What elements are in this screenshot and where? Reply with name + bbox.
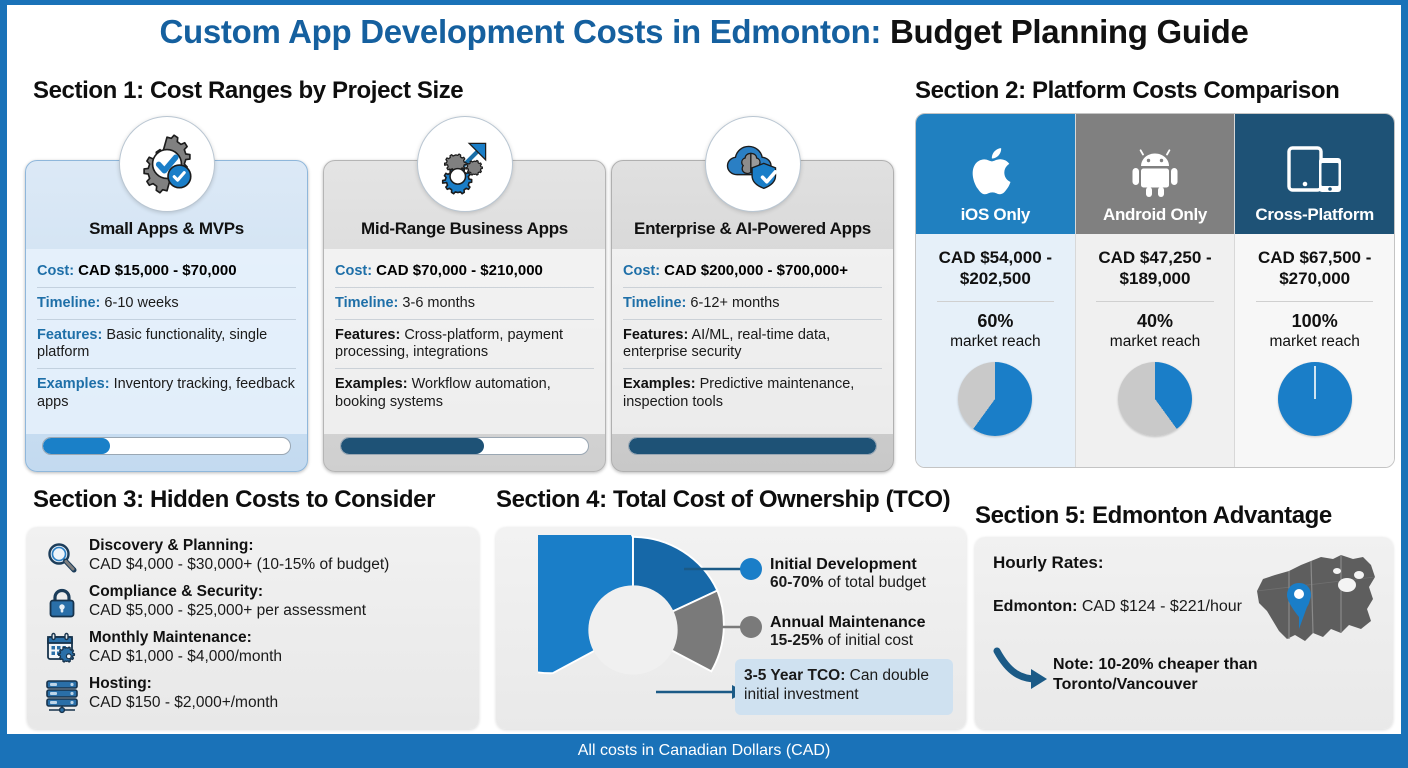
card-row-timeline: Timeline: 3-6 months xyxy=(335,288,594,320)
section-4-heading: Section 4: Total Cost of Ownership (TCO) xyxy=(496,486,950,514)
legend-sub: 60-70% of total budget xyxy=(770,574,926,593)
reach-pct: 60% xyxy=(950,311,1040,333)
reach-label: market reach xyxy=(950,333,1040,352)
market-reach: 40% market reach xyxy=(1110,311,1200,351)
examples-label: Examples: xyxy=(335,376,408,392)
reach-pct: 40% xyxy=(1110,311,1200,333)
market-reach: 60% market reach xyxy=(950,311,1040,351)
edmonton-advantage-panel: Hourly Rates: Edmonton: CAD $124 - $221/… xyxy=(975,537,1393,729)
legend-annual-maintenance: Annual Maintenance 15-25% of initial cos… xyxy=(770,613,926,651)
curved-arrow-icon xyxy=(993,647,1051,693)
lock-icon xyxy=(39,583,85,620)
features-label: Features: xyxy=(335,327,400,343)
footer-text: All costs in Canadian Dollars (CAD) xyxy=(578,742,831,760)
platform-cost: CAD $54,000 - $202,500 xyxy=(916,248,1075,289)
timeline-label: Timeline: xyxy=(37,295,100,311)
item-title: Monthly Maintenance: xyxy=(89,629,282,648)
card-title: Small Apps & MVPs xyxy=(26,219,307,239)
item-value: CAD $4,000 - $30,000+ (10-15% of budget) xyxy=(89,556,389,575)
card-row-cost: Cost: CAD $15,000 - $70,000 xyxy=(37,255,296,288)
card-row-cost: Cost: CAD $200,000 - $700,000+ xyxy=(623,255,882,288)
platform-cost: CAD $67,500 - $270,000 xyxy=(1235,248,1394,289)
tablet-phone-icon xyxy=(1285,144,1345,205)
card-row-examples: Examples: Inventory tracking, feedback a… xyxy=(37,369,296,417)
legend-title: Initial Development xyxy=(770,555,926,574)
features-label: Features: xyxy=(37,327,102,343)
market-reach: 100% market reach xyxy=(1269,311,1359,351)
gears-growth-arrow-icon xyxy=(417,116,513,212)
gear-check-icon xyxy=(119,116,215,212)
cost-label: Cost: xyxy=(623,263,660,279)
examples-label: Examples: xyxy=(37,376,110,392)
reach-pie-chart xyxy=(1278,362,1352,436)
card-title: Enterprise & AI-Powered Apps xyxy=(612,219,893,239)
platform-header: iOS Only xyxy=(916,114,1075,234)
item-title: Hosting: xyxy=(89,675,278,694)
cost-label: Cost: xyxy=(37,263,74,279)
city-rate: CAD $124 - $221/hour xyxy=(1082,598,1242,615)
item-title: Compliance & Security: xyxy=(89,583,366,602)
cloud-brain-shield-icon xyxy=(705,116,801,212)
legend-sub-bold: 15-25% xyxy=(770,632,823,649)
list-item[interactable]: Discovery & Planning: CAD $4,000 - $30,0… xyxy=(39,537,467,582)
card-row-features: Features: Basic functionality, single pl… xyxy=(37,320,296,369)
canada-map-pin-icon xyxy=(1249,551,1379,661)
card-body: Cost: CAD $15,000 - $70,000 Timeline: 6-… xyxy=(26,249,307,434)
list-item[interactable]: Compliance & Security: CAD $5,000 - $25,… xyxy=(39,583,467,628)
city-label: Edmonton: xyxy=(993,598,1077,615)
infographic-page: Custom App Development Costs in Edmonton… xyxy=(0,0,1408,768)
page-title-highlight: Custom App Development Costs in Edmonton… xyxy=(159,13,881,50)
page-title-rest: Budget Planning Guide xyxy=(890,13,1249,50)
legend-title: Annual Maintenance xyxy=(770,613,926,632)
timeline-label: Timeline: xyxy=(335,295,398,311)
section-2-heading: Section 2: Platform Costs Comparison xyxy=(915,77,1339,105)
cost-label: Cost: xyxy=(335,263,372,279)
cost-value: CAD $70,000 - $210,000 xyxy=(376,262,543,279)
progress-fill xyxy=(629,438,876,454)
section-5-heading: Section 5: Edmonton Advantage xyxy=(975,502,1332,530)
progress-bar xyxy=(340,437,589,455)
progress-fill xyxy=(43,438,110,454)
timeline-value: 6-12+ months xyxy=(690,295,779,311)
divider xyxy=(937,301,1054,302)
section-1-heading: Section 1: Cost Ranges by Project Size xyxy=(33,77,463,105)
card-title: Mid-Range Business Apps xyxy=(324,219,605,239)
legend-initial-development: Initial Development 60-70% of total budg… xyxy=(770,555,926,593)
platform-comparison-table: iOS Only CAD $54,000 - $202,500 60% mark… xyxy=(915,113,1395,468)
list-item-text: Discovery & Planning: CAD $4,000 - $30,0… xyxy=(85,537,389,575)
timeline-value: 6-10 weeks xyxy=(104,295,178,311)
tco-panel: Initial Development 60-70% of total budg… xyxy=(496,527,966,729)
project-card-enterprise[interactable]: Enterprise & AI-Powered Apps Cost: CAD $… xyxy=(611,160,894,472)
footer-bar: All costs in Canadian Dollars (CAD) xyxy=(0,734,1408,768)
timeline-value: 3-6 months xyxy=(402,295,475,311)
platform-body: CAD $67,500 - $270,000 100% market reach xyxy=(1235,234,1394,467)
platform-body: CAD $47,250 - $189,000 40% market reach xyxy=(1076,234,1235,467)
legend-sub-bold: 60-70% xyxy=(770,574,823,591)
platform-column-ios[interactable]: iOS Only CAD $54,000 - $202,500 60% mark… xyxy=(916,114,1076,467)
item-title: Discovery & Planning: xyxy=(89,537,389,556)
project-card-mid-range[interactable]: Mid-Range Business Apps Cost: CAD $70,00… xyxy=(323,160,606,472)
features-label: Features: xyxy=(623,327,688,343)
server-icon xyxy=(39,675,85,714)
card-body: Cost: CAD $70,000 - $210,000 Timeline: 3… xyxy=(324,249,605,434)
platform-header: Cross-Platform xyxy=(1235,114,1394,234)
platform-cost: CAD $47,250 - $189,000 xyxy=(1076,248,1235,289)
apple-logo-icon xyxy=(969,142,1021,205)
tco-note-bold: 3-5 Year TCO: xyxy=(744,667,845,684)
reach-pct: 100% xyxy=(1269,311,1359,333)
examples-label: Examples: xyxy=(623,376,696,392)
platform-name: iOS Only xyxy=(961,205,1030,225)
item-value: CAD $150 - $2,000+/month xyxy=(89,694,278,713)
divider xyxy=(1256,301,1373,302)
card-row-timeline: Timeline: 6-12+ months xyxy=(623,288,882,320)
card-row-examples: Examples: Workflow automation, booking s… xyxy=(335,369,594,417)
reach-label: market reach xyxy=(1110,333,1200,352)
progress-bar xyxy=(42,437,291,455)
section-3-heading: Section 3: Hidden Costs to Consider xyxy=(33,486,435,514)
list-item-text: Hosting: CAD $150 - $2,000+/month xyxy=(85,675,278,713)
card-row-features: Features: Cross-platform, payment proces… xyxy=(335,320,594,369)
reach-pie-chart xyxy=(958,362,1032,436)
cost-value: CAD $200,000 - $700,000+ xyxy=(664,262,848,279)
card-row-timeline: Timeline: 6-10 weeks xyxy=(37,288,296,320)
tco-donut-chart xyxy=(538,535,728,725)
reach-pie-chart xyxy=(1118,362,1192,436)
progress-fill xyxy=(341,438,484,454)
platform-column-android[interactable]: Android Only CAD $47,250 - $189,000 40% … xyxy=(1076,114,1236,467)
legend-sub-rest: of total budget xyxy=(823,574,926,591)
list-item[interactable]: Hosting: CAD $150 - $2,000+/month xyxy=(39,675,467,720)
hidden-costs-panel: Discovery & Planning: CAD $4,000 - $30,0… xyxy=(27,527,479,729)
card-row-cost: Cost: CAD $70,000 - $210,000 xyxy=(335,255,594,288)
progress-bar xyxy=(628,437,877,455)
legend-sub-rest: of initial cost xyxy=(823,632,913,649)
page-title: Custom App Development Costs in Edmonton… xyxy=(7,13,1401,51)
platform-header: Android Only xyxy=(1076,114,1235,234)
reach-label: market reach xyxy=(1269,333,1359,352)
item-value: CAD $5,000 - $25,000+ per assessment xyxy=(89,602,366,621)
calendar-gear-icon xyxy=(39,629,85,666)
magnifier-icon xyxy=(39,537,85,576)
cost-value: CAD $15,000 - $70,000 xyxy=(78,262,236,279)
divider xyxy=(1096,301,1213,302)
card-row-examples: Examples: Predictive maintenance, inspec… xyxy=(623,369,882,417)
platform-name: Cross-Platform xyxy=(1255,205,1374,225)
legend-dot-annual-maintenance xyxy=(740,616,762,638)
item-value: CAD $1,000 - $4,000/month xyxy=(89,648,282,667)
list-item-text: Compliance & Security: CAD $5,000 - $25,… xyxy=(85,583,366,621)
timeline-label: Timeline: xyxy=(623,295,686,311)
android-robot-icon xyxy=(1127,144,1183,205)
list-item[interactable]: Monthly Maintenance: CAD $1,000 - $4,000… xyxy=(39,629,467,674)
platform-column-cross-platform[interactable]: Cross-Platform CAD $67,500 - $270,000 10… xyxy=(1235,114,1394,467)
platform-name: Android Only xyxy=(1103,205,1207,225)
card-body: Cost: CAD $200,000 - $700,000+ Timeline:… xyxy=(612,249,893,434)
legend-sub: 15-25% of initial cost xyxy=(770,632,926,651)
project-card-small-apps[interactable]: Small Apps & MVPs Cost: CAD $15,000 - $7… xyxy=(25,160,308,472)
platform-body: CAD $54,000 - $202,500 60% market reach xyxy=(916,234,1075,467)
list-item-text: Monthly Maintenance: CAD $1,000 - $4,000… xyxy=(85,629,282,667)
card-row-features: Features: AI/ML, real-time data, enterpr… xyxy=(623,320,882,369)
legend-dot-initial-development xyxy=(740,558,762,580)
tco-note-callout: 3-5 Year TCO: Can double initial investm… xyxy=(735,659,953,715)
